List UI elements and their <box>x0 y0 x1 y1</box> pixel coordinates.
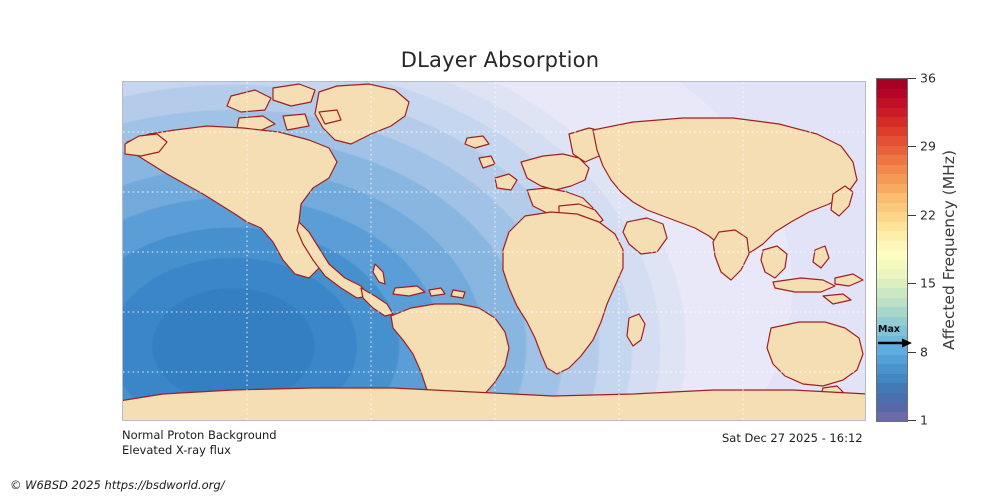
colorbar-band <box>877 165 907 175</box>
colorbar-band <box>877 336 907 346</box>
proton-background-text: Normal Proton Background <box>122 428 277 443</box>
colorbar-band <box>877 345 907 355</box>
colorbar-tick-mark <box>908 283 916 284</box>
colorbar-tick-mark <box>908 420 916 421</box>
status-annotations: Normal Proton Background Elevated X-ray … <box>122 428 277 457</box>
colorbar-title-text: Affected Frequency (MHz) <box>940 150 958 350</box>
colorbar-tick-label: 8 <box>920 344 928 359</box>
colorbar-band <box>877 393 907 403</box>
colorbar-tick-mark <box>908 215 916 216</box>
colorbar-title: Affected Frequency (MHz) <box>938 78 960 422</box>
colorbar-band <box>877 146 907 156</box>
world-map-panel[interactable] <box>122 81 866 421</box>
page-title: DLayer Absorption <box>0 48 1000 72</box>
colorbar-tick-label: 1 <box>920 413 928 428</box>
colorbar-band <box>877 193 907 203</box>
colorbar-band <box>877 174 907 184</box>
colorbar-band <box>877 241 907 251</box>
colorbar-band <box>877 374 907 384</box>
colorbar-band <box>877 355 907 365</box>
colorbar-band <box>877 184 907 194</box>
colorbar-band <box>877 222 907 232</box>
colorbar-band <box>877 269 907 279</box>
footer-credit: © W6BSD 2025 https://bsdworld.org/ <box>10 478 225 492</box>
colorbar-band <box>877 231 907 241</box>
colorbar-tick-mark <box>908 146 916 147</box>
colorbar-band <box>877 203 907 213</box>
colorbar-band <box>877 89 907 99</box>
colorbar-band <box>877 326 907 336</box>
colorbar-tick-label: 15 <box>920 276 936 291</box>
colorbar-band <box>877 288 907 298</box>
colorbar-tick-label: 36 <box>920 71 936 86</box>
colorbar-band <box>877 412 907 422</box>
colorbar[interactable] <box>876 78 908 422</box>
colorbar-band <box>877 155 907 165</box>
colorbar-band <box>877 298 907 308</box>
colorbar-band <box>877 108 907 118</box>
colorbar-tick-label: 22 <box>920 207 936 222</box>
colorbar-band <box>877 117 907 127</box>
colorbar-band <box>877 307 907 317</box>
dlayer-absorption-plot: DLayer Absorption <box>0 0 1000 500</box>
colorbar-band <box>877 136 907 146</box>
colorbar-tick-mark <box>908 352 916 353</box>
colorbar-band <box>877 364 907 374</box>
colorbar-band <box>877 212 907 222</box>
colorbar-band <box>877 383 907 393</box>
colorbar-tick-label: 29 <box>920 139 936 154</box>
xray-flux-text: Elevated X-ray flux <box>122 443 277 458</box>
colorbar-band <box>877 402 907 412</box>
colorbar-band <box>877 98 907 108</box>
colorbar-band <box>877 279 907 289</box>
colorbar-band <box>877 127 907 137</box>
colorbar-band <box>877 317 907 327</box>
colorbar-band <box>877 79 907 89</box>
world-map-svg <box>123 82 866 421</box>
colorbar-band <box>877 250 907 260</box>
timestamp-text: Sat Dec 27 2025 - 16:12 <box>722 431 863 445</box>
colorbar-tick-mark <box>908 78 916 79</box>
colorbar-band <box>877 260 907 270</box>
